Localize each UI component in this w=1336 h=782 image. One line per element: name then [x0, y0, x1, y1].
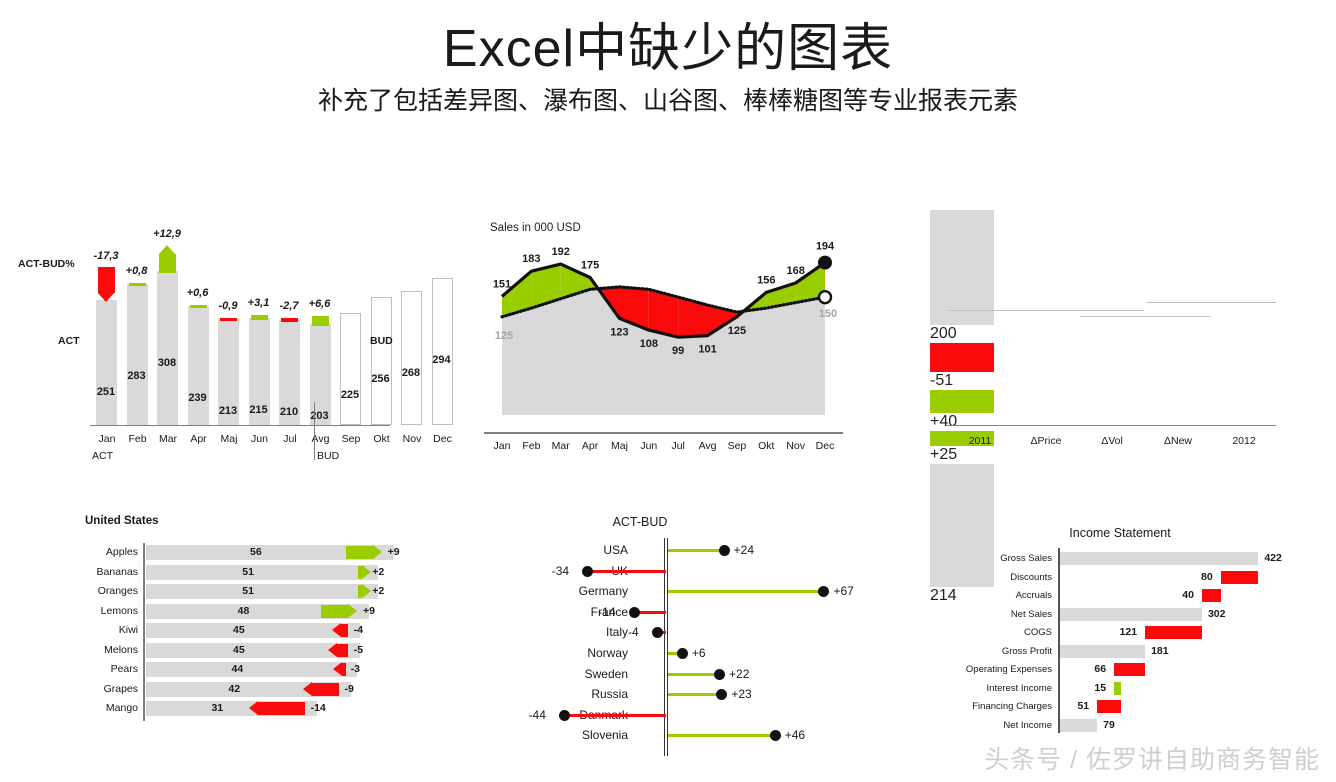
chart3-waterfall-block — [930, 210, 994, 325]
chart5-stick — [668, 693, 721, 696]
chart5-value-label: -34 — [552, 562, 569, 581]
chart1-variance-label: +12,9 — [144, 228, 190, 240]
chart6-row: Net Income79 — [920, 717, 1320, 734]
chart4-row: Kiwi45-4 — [60, 623, 420, 638]
chart1-x-axis — [90, 425, 390, 426]
chart5-stick — [668, 673, 719, 676]
chart1-x-label: Okt — [365, 433, 399, 445]
chart5-row-label: Italy — [440, 623, 628, 642]
chart6-bar — [1060, 552, 1258, 565]
chart1-column: 268 — [401, 210, 422, 425]
chart1-group-divider — [314, 402, 315, 460]
chart5-title: ACT-BUD — [440, 515, 840, 529]
chart1-group-bud: BUD — [317, 450, 339, 462]
chart1-x-label: Mar — [151, 433, 185, 445]
watermark: 头条号 / 佐罗讲自助商务智能 — [984, 740, 1320, 776]
chart1-x-label: Apr — [182, 433, 216, 445]
chart1-x-label: Dec — [426, 433, 460, 445]
chart3-block-label: 200 — [930, 325, 1020, 343]
chart6-value-label: 121 — [1120, 624, 1138, 641]
chart6-row: Accruals40 — [920, 587, 1320, 604]
chart1-variance-marker: +6,6 — [310, 210, 331, 425]
chart4-delta-label: -9 — [345, 682, 354, 697]
chart3-x-label: 2012 — [1199, 435, 1289, 447]
chart6-row-label: Gross Profit — [920, 643, 1052, 660]
chart5-stick — [587, 570, 666, 573]
chart6-row-label: Gross Sales — [920, 550, 1052, 567]
chart2-x-label: Maj — [611, 440, 628, 452]
chart6-bar — [1097, 700, 1121, 713]
chart3-x-axis — [946, 425, 1276, 426]
chart-us-bars: United States Apples56+9Bananas51+2Orang… — [60, 505, 420, 740]
chart5-dot — [629, 607, 640, 618]
chart5-row-label: Germany — [440, 582, 628, 601]
chart5-row: France-14 — [440, 603, 840, 622]
chart6-bar — [1114, 663, 1145, 676]
chart2-budget-last-label: 150 — [819, 308, 837, 320]
chart-variance-column: 251-17,3Jan283+0,8Feb308+12,9Mar239+0,6A… — [40, 210, 440, 460]
chart6-row-label: Financing Charges — [920, 698, 1052, 715]
chart1-variance-label: +6,6 — [297, 298, 343, 310]
chart1-group-act: ACT — [92, 450, 113, 462]
chart4-bar-value: 42 — [146, 682, 323, 697]
chart4-delta-label: +2 — [372, 565, 384, 580]
chart3-block-label: -51 — [930, 372, 1020, 390]
chart3-connector — [1014, 310, 1144, 311]
chart6-bar — [1145, 626, 1202, 639]
chart5-dot — [770, 730, 781, 741]
chart1-variance-label: +0,6 — [175, 287, 221, 299]
chart-lollipop: ACT-BUD USA+24UK-34Germany+67France-14It… — [440, 505, 840, 755]
chart1-variance-pin — [159, 245, 176, 273]
chart2-point-label: 151 — [493, 278, 511, 290]
chart4-row: Bananas51+2 — [60, 565, 420, 580]
chart4-row-label: Lemons — [60, 604, 138, 619]
chart6-row-label: Operating Expenses — [920, 661, 1052, 678]
chart2-point-label: 192 — [552, 246, 570, 258]
chart1-bud-label: BUD — [370, 335, 393, 347]
chart2-svg: 1511831921751231089910112515616819412515… — [470, 210, 870, 460]
chart4-bar-value: 48 — [146, 604, 341, 619]
chart2-x-label: Jun — [640, 440, 657, 452]
chart2-point-label: 183 — [522, 253, 540, 265]
chart1-variance-label: -17,3 — [83, 250, 129, 262]
chart5-value-label: +23 — [731, 685, 751, 704]
chart5-row: Norway+6 — [440, 644, 840, 663]
chart1-bar-budget — [340, 313, 361, 426]
chart6-bar — [1221, 571, 1259, 584]
chart1-variance-pin — [281, 318, 298, 322]
chart1-variance-marker: -17,3 — [96, 210, 117, 425]
chart5-dot — [716, 689, 727, 700]
chart1-x-label: Maj — [212, 433, 246, 445]
chart2-point-label: 168 — [786, 265, 804, 277]
chart6-row-label: Net Income — [920, 717, 1052, 734]
chart4-row-label: Pears — [60, 662, 138, 677]
chart6-row-label: Discounts — [920, 569, 1052, 586]
chart4-row: Oranges51+2 — [60, 584, 420, 599]
chart1-variance-marker: -0,9 — [218, 210, 239, 425]
chart5-value-label: -44 — [529, 706, 546, 725]
chart2-x-label: Mar — [552, 440, 571, 452]
chart1-variance-pin — [129, 283, 146, 286]
chart6-value-label: 302 — [1208, 606, 1226, 623]
chart3-connector — [1146, 302, 1276, 303]
chart4-row: Apples56+9 — [60, 545, 420, 560]
chart1-variance-marker: -2,7 — [279, 210, 300, 425]
chart2-x-label: Dec — [816, 440, 835, 452]
chart1-value-label: 294 — [422, 354, 462, 366]
chart3-block-label: +25 — [930, 446, 1020, 464]
chart5-dot — [818, 586, 829, 597]
chart5-value-label: -4 — [628, 623, 639, 642]
chart5-row: Germany+67 — [440, 582, 840, 601]
chart2-point-label: 123 — [610, 326, 628, 338]
chart3-plot-area: 2002011-51ΔPrice+40ΔVol+25ΔNew2142012 — [930, 210, 1290, 460]
chart2-actual-end-marker — [818, 256, 832, 270]
chart5-row: Italy-4 — [440, 623, 840, 642]
chart6-value-label: 422 — [1264, 550, 1282, 567]
chart5-value-label: +6 — [692, 644, 706, 663]
chart6-row: Gross Sales422 — [920, 550, 1320, 567]
chart1-variance-marker: +3,1 — [249, 210, 270, 425]
chart4-delta-label: -14 — [311, 701, 326, 716]
chart6-value-label: 66 — [1094, 661, 1106, 678]
chart4-row-label: Oranges — [60, 584, 138, 599]
chart1-bar-budget — [371, 297, 392, 425]
chart2-point-label: 194 — [816, 241, 835, 253]
chart1-x-label: Sep — [334, 433, 368, 445]
chart6-bar — [1114, 682, 1121, 695]
chart4-delta-label: -3 — [351, 662, 360, 677]
chart2-point-label: 175 — [581, 260, 599, 272]
chart1-value-label: 268 — [391, 367, 431, 379]
chart2-x-label: Jan — [494, 440, 511, 452]
chart1-column: 256 — [371, 210, 392, 425]
chart5-dot — [677, 648, 688, 659]
chart2-x-label: Feb — [522, 440, 540, 452]
chart-waterfall: 2002011-51ΔPrice+40ΔVol+25ΔNew2142012 — [930, 210, 1290, 460]
chart6-value-label: 15 — [1094, 680, 1106, 697]
chart6-row: Financing Charges51 — [920, 698, 1320, 715]
chart6-title: Income Statement — [920, 526, 1320, 540]
chart6-row: Discounts80 — [920, 569, 1320, 586]
chart3-connector — [1080, 316, 1210, 317]
page-subtitle: 补充了包括差异图、瀑布图、山谷图、棒棒糖图等专业报表元素 — [0, 84, 1336, 118]
chart3-waterfall-block — [930, 390, 994, 413]
chart6-bar — [1060, 645, 1145, 658]
chart6-bar — [1060, 719, 1097, 732]
chart6-row-label: COGS — [920, 624, 1052, 641]
chart4-delta-label: +2 — [372, 584, 384, 599]
chart3-waterfall-block — [930, 343, 994, 372]
chart5-stick — [668, 734, 775, 737]
chart5-dot — [719, 545, 730, 556]
chart1-bar-budget — [432, 278, 453, 425]
chart6-row: Net Sales302 — [920, 606, 1320, 623]
chart4-bar-value: 45 — [146, 643, 332, 658]
chart3-block-label: +40 — [930, 413, 1020, 431]
chart4-row-label: Kiwi — [60, 623, 138, 638]
chart5-row: Sweden+22 — [440, 665, 840, 684]
chart1-value-label: 225 — [330, 389, 370, 401]
chart4-bar-value: 45 — [146, 623, 332, 638]
chart4-row: Melons45-5 — [60, 643, 420, 658]
chart6-row: Gross Profit181 — [920, 643, 1320, 660]
chart2-x-label: Nov — [786, 440, 805, 452]
chart4-title: United States — [85, 515, 159, 527]
chart5-row: USA+24 — [440, 541, 840, 560]
chart2-x-label: Jul — [671, 440, 684, 452]
chart-variance-area: Sales in 000 USD 15118319217512310899101… — [470, 210, 870, 460]
chart5-dot — [652, 627, 663, 638]
chart5-value-label: -14 — [598, 603, 615, 622]
chart2-point-label: 101 — [698, 344, 716, 356]
chart1-x-label: Feb — [121, 433, 155, 445]
chart6-value-label: 80 — [1201, 569, 1213, 586]
chart6-bar — [1202, 589, 1221, 602]
chart1-x-label: Jul — [273, 433, 307, 445]
chart4-bar-value: 56 — [146, 545, 366, 560]
chart1-variance-marker: +12,9 — [157, 210, 178, 425]
chart6-row: Interest Income15 — [920, 680, 1320, 697]
chart6-row-label: Accruals — [920, 587, 1052, 604]
chart4-delta-label: -4 — [354, 623, 363, 638]
chart1-variance-pin — [190, 305, 207, 308]
chart6-row-label: Net Sales — [920, 606, 1052, 623]
chart6-value-label: 51 — [1077, 698, 1089, 715]
chart5-value-label: +22 — [729, 665, 749, 684]
chart6-row: COGS121 — [920, 624, 1320, 641]
chart4-bar-value: 44 — [146, 662, 329, 677]
chart-income-statement: Income Statement Gross Sales422Discounts… — [920, 520, 1320, 745]
chart1-variance-marker: +0,8 — [127, 210, 148, 425]
chart1-x-label: Nov — [395, 433, 429, 445]
chart1-variance-marker: +0,6 — [188, 210, 209, 425]
chart6-row: Operating Expenses66 — [920, 661, 1320, 678]
chart2-budget-first-label: 125 — [495, 330, 513, 342]
chart4-row: Mango31-14 — [60, 701, 420, 716]
chart1-variance-pin — [98, 267, 115, 301]
chart1-variance-label: +0,8 — [114, 265, 160, 277]
chart2-point-label: 156 — [757, 274, 775, 286]
chart6-value-label: 40 — [1182, 587, 1194, 604]
chart5-row-label: Norway — [440, 644, 628, 663]
slide-canvas: Excel中缺少的图表 补充了包括差异图、瀑布图、山谷图、棒棒糖图等专业报表元素… — [0, 0, 1336, 782]
chart2-point-label: 125 — [728, 325, 746, 337]
chart4-delta-label: -5 — [354, 643, 363, 658]
chart2-budget-end-marker — [819, 291, 831, 303]
chart2-point-label: 99 — [672, 345, 684, 357]
chart5-dot — [559, 710, 570, 721]
chart4-row: Lemons48+9 — [60, 604, 420, 619]
chart4-bar-value: 51 — [146, 565, 350, 580]
chart5-row-label: Sweden — [440, 665, 628, 684]
chart1-actbud-label: ACT-BUD% — [18, 258, 75, 270]
slide-header: Excel中缺少的图表 补充了包括差异图、瀑布图、山谷图、棒棒糖图等专业报表元素 — [0, 18, 1336, 118]
chart5-row: Danmark-44 — [440, 706, 840, 725]
chart2-x-label: Okt — [758, 440, 774, 452]
chart5-stick — [668, 549, 724, 552]
chart6-value-label: 181 — [1151, 643, 1169, 660]
chart1-act-label: ACT — [58, 335, 80, 347]
chart1-x-label: Avg — [304, 433, 338, 445]
chart5-value-label: +46 — [785, 726, 805, 745]
chart5-row-label: Slovenia — [440, 726, 628, 745]
chart4-row-label: Grapes — [60, 682, 138, 697]
chart1-x-label: Jan — [90, 433, 124, 445]
chart5-row-label: USA — [440, 541, 628, 560]
chart5-value-label: +67 — [833, 582, 853, 601]
page-title: Excel中缺少的图表 — [0, 18, 1336, 80]
chart2-x-label: Sep — [728, 440, 747, 452]
chart5-row-label: Russia — [440, 685, 628, 704]
chart6-row-label: Interest Income — [920, 680, 1052, 697]
chart5-dot — [714, 669, 725, 680]
chart2-x-label: Apr — [582, 440, 599, 452]
chart4-row-label: Apples — [60, 545, 138, 560]
chart6-bar — [1060, 608, 1202, 621]
chart4-row-label: Melons — [60, 643, 138, 658]
chart4-row: Grapes42-9 — [60, 682, 420, 697]
chart5-row: Slovenia+46 — [440, 726, 840, 745]
chart1-variance-pin — [220, 318, 237, 321]
chart4-delta-label: +9 — [388, 545, 400, 560]
chart5-stick — [564, 714, 666, 717]
chart5-row: UK-34 — [440, 562, 840, 581]
chart1-variance-pin — [251, 315, 268, 319]
chart5-dot — [582, 566, 593, 577]
chart1-column: 294 — [432, 210, 453, 425]
chart1-column: 225 — [340, 210, 361, 425]
chart2-point-label: 108 — [640, 338, 658, 350]
chart5-value-label: +24 — [734, 541, 754, 560]
chart1-variance-pin — [312, 316, 329, 326]
chart4-row-label: Mango — [60, 701, 138, 716]
chart4-delta-label: +9 — [363, 604, 375, 619]
chart2-x-label: Avg — [699, 440, 717, 452]
chart4-bar-value: 51 — [146, 584, 350, 599]
chart4-row: Pears44-3 — [60, 662, 420, 677]
chart1-bar-budget — [401, 291, 422, 425]
chart1-x-label: Jun — [243, 433, 277, 445]
chart5-stick — [668, 590, 823, 593]
chart5-row: Russia+23 — [440, 685, 840, 704]
chart4-row-label: Bananas — [60, 565, 138, 580]
chart6-value-label: 79 — [1103, 717, 1115, 734]
